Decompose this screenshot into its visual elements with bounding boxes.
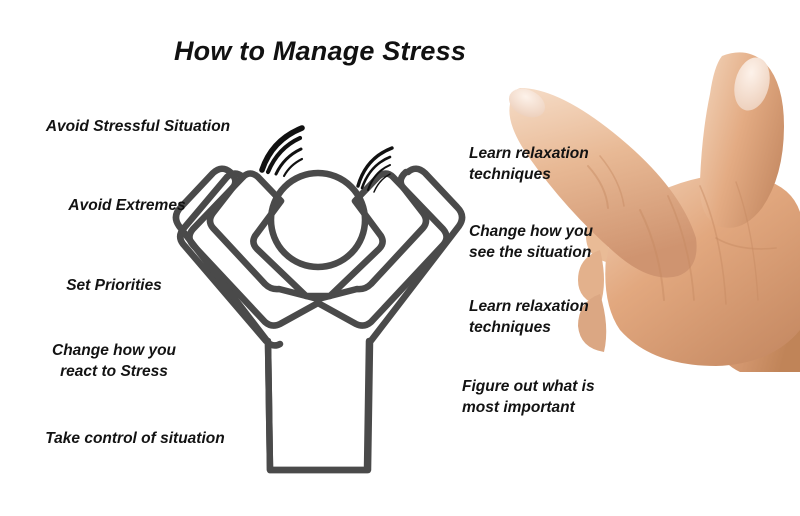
stress-waves-left-icon — [262, 128, 302, 176]
figure-head — [271, 173, 365, 267]
tip-left-5: Take control of situation — [10, 429, 260, 450]
tip-left-2: Avoid Extremes — [18, 196, 236, 217]
tip-left-4: Change how you react to Stress — [14, 341, 214, 383]
stress-infographic: How to Manage Stress — [0, 0, 800, 516]
tip-left-3: Set Priorities — [14, 276, 214, 297]
tip-right-1: Learn relaxation techniques — [469, 144, 619, 186]
tip-right-3: Learn relaxation techniques — [469, 297, 619, 339]
tip-left-1: Avoid Stressful Situation — [18, 117, 258, 138]
tip-right-2: Change how you see the situation — [469, 222, 619, 264]
stress-waves-right-icon — [358, 148, 392, 192]
figure-body-outline — [180, 174, 446, 471]
tip-right-4: Figure out what is most important — [462, 377, 622, 419]
